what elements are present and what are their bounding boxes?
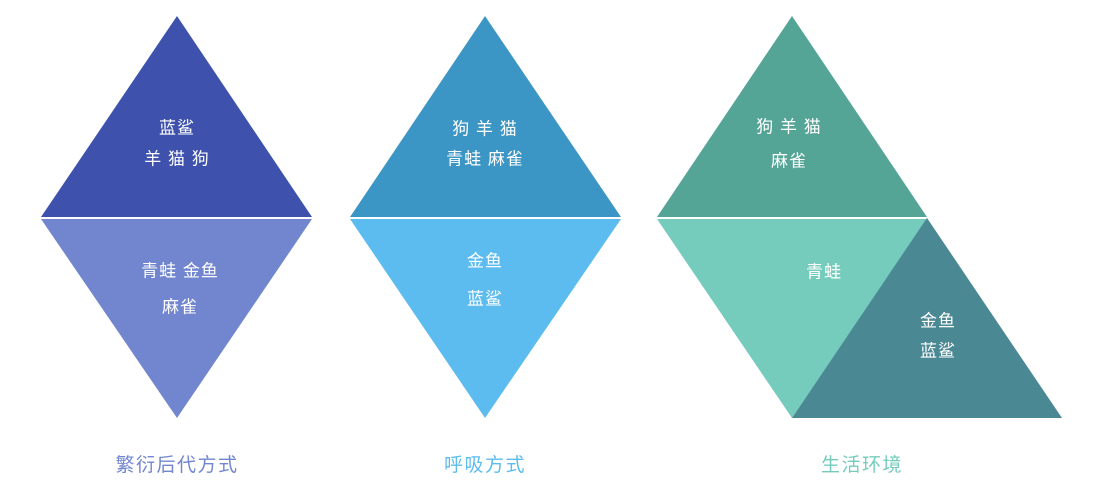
habitat-upper-label-line2: 麻雀 <box>771 151 807 170</box>
respiration-lower-label-line1: 金鱼 <box>467 251 503 270</box>
group-respiration[interactable]: 狗 羊 猫 青蛙 麻雀 金鱼 蓝鲨 <box>350 16 621 418</box>
caption-respiration: 呼吸方式 <box>444 454 526 476</box>
reproduction-upper-triangle[interactable] <box>41 16 312 217</box>
habitat-overlay-label-line1: 金鱼 <box>920 311 956 330</box>
reproduction-lower-label-line2: 麻雀 <box>162 297 198 316</box>
group-habitat[interactable]: 狗 羊 猫 麻雀 青蛙 金鱼 蓝鲨 <box>657 16 1062 418</box>
diagram-canvas: 蓝鲨 羊 猫 狗 青蛙 金鱼 麻雀 狗 羊 猫 青蛙 麻雀 金鱼 蓝鲨 狗 羊 … <box>0 0 1110 502</box>
reproduction-lower-label-line1: 青蛙 金鱼 <box>141 261 219 280</box>
habitat-upper-label-line1: 狗 羊 猫 <box>756 117 821 136</box>
respiration-upper-label-line2: 青蛙 麻雀 <box>446 149 524 168</box>
respiration-upper-label-line1: 狗 羊 猫 <box>452 119 517 138</box>
habitat-overlay-label-line2: 蓝鲨 <box>920 341 956 360</box>
habitat-lower-label-line1: 青蛙 <box>806 262 842 281</box>
respiration-upper-triangle[interactable] <box>350 16 621 217</box>
respiration-lower-label-line2: 蓝鲨 <box>467 289 503 308</box>
caption-reproduction: 繁衍后代方式 <box>115 454 238 476</box>
reproduction-lower-triangle[interactable] <box>41 219 312 418</box>
venn-diamond-diagram: 蓝鲨 羊 猫 狗 青蛙 金鱼 麻雀 狗 羊 猫 青蛙 麻雀 金鱼 蓝鲨 狗 羊 … <box>0 0 1110 502</box>
respiration-lower-triangle[interactable] <box>350 219 621 418</box>
reproduction-upper-label-line1: 蓝鲨 <box>159 118 195 137</box>
group-reproduction[interactable]: 蓝鲨 羊 猫 狗 青蛙 金鱼 麻雀 <box>41 16 312 418</box>
caption-habitat: 生活环境 <box>821 454 903 476</box>
reproduction-upper-label-line2: 羊 猫 狗 <box>144 149 209 168</box>
